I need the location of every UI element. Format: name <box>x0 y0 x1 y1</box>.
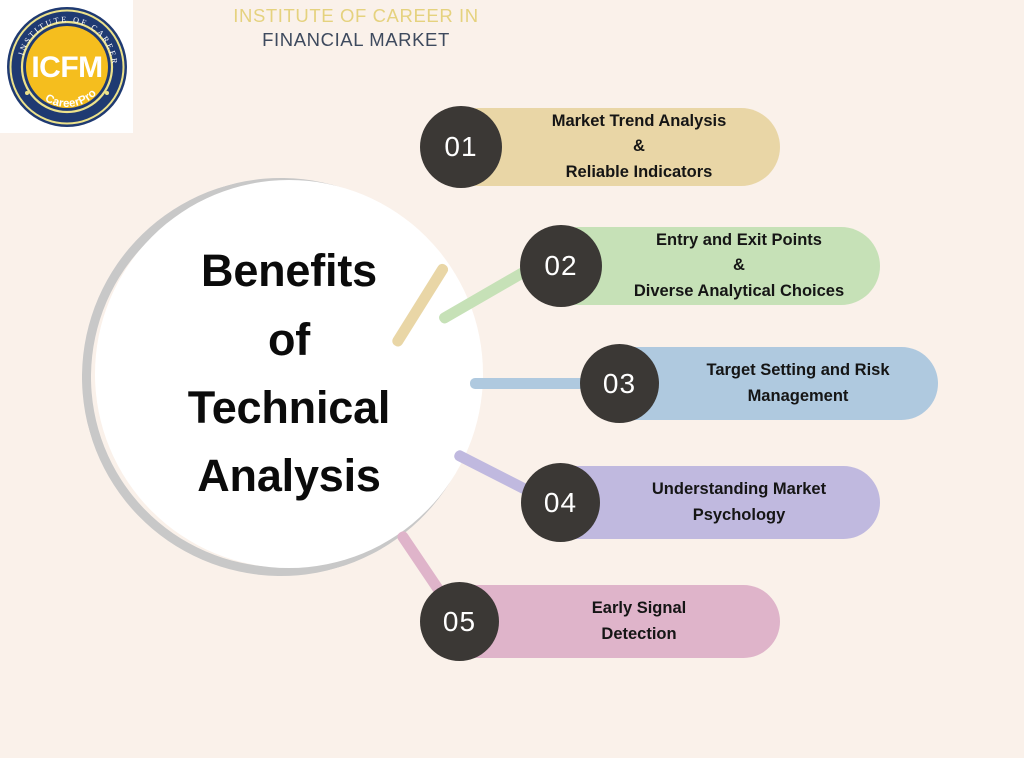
benefit-line-03-b: Management <box>672 384 924 410</box>
benefit-number-label-02: 02 <box>544 250 577 282</box>
hub-center-circle: Benefits of Technical Analysis <box>95 180 483 568</box>
benefit-number-04[interactable]: 04 <box>521 463 600 542</box>
hub-title-line-4: Analysis <box>197 442 381 510</box>
benefit-line-02-a: Entry and Exit Points <box>656 231 822 249</box>
hub-title-line-3: Technical <box>188 374 390 442</box>
benefit-number-02[interactable]: 02 <box>520 225 602 307</box>
benefit-line-01-c: Reliable Indicators <box>566 163 713 181</box>
svg-text:ICFM: ICFM <box>31 51 102 84</box>
connector-line-03 <box>470 378 590 389</box>
benefit-line-01-b: & <box>512 134 766 160</box>
brand-logo-box: INSTITUTE OF CAREER IN FINANCIAL MARKET … <box>0 0 133 133</box>
benefit-number-03[interactable]: 03 <box>580 344 659 423</box>
brand-title-line2: FINANCIAL MARKET <box>146 28 566 52</box>
benefit-number-05[interactable]: 05 <box>420 582 499 661</box>
benefit-line-05-b: Detection <box>512 622 766 648</box>
benefit-line-05-a: Early Signal <box>592 599 686 617</box>
benefit-line-02-c: Diverse Analytical Choices <box>634 282 844 300</box>
hub-title-line-1: Benefits <box>201 237 377 305</box>
benefit-line-01-a: Market Trend Analysis <box>552 112 727 130</box>
benefit-line-04-a: Understanding Market <box>652 480 826 498</box>
benefit-number-label-04: 04 <box>544 487 577 519</box>
benefit-number-label-01: 01 <box>444 131 477 163</box>
infographic-canvas: INSTITUTE OF CAREER IN FINANCIAL MARKET … <box>0 0 1024 758</box>
benefit-number-label-03: 03 <box>603 368 636 400</box>
benefit-line-02-b: & <box>612 253 866 279</box>
icfm-logo-svg: INSTITUTE OF CAREER IN FINANCIAL MARKET … <box>5 5 129 129</box>
benefit-line-04-b: Psychology <box>612 503 866 529</box>
benefit-line-03-a: Target Setting and Risk <box>706 361 889 379</box>
brand-title: INSTITUTE OF CAREER IN FINANCIAL MARKET <box>146 4 566 51</box>
hub-title-line-2: of <box>268 306 310 374</box>
icfm-logo-icon: INSTITUTE OF CAREER IN FINANCIAL MARKET … <box>5 5 129 129</box>
benefit-number-label-05: 05 <box>443 606 476 638</box>
benefit-number-01[interactable]: 01 <box>420 106 502 188</box>
brand-title-line1: INSTITUTE OF CAREER IN <box>146 4 566 28</box>
